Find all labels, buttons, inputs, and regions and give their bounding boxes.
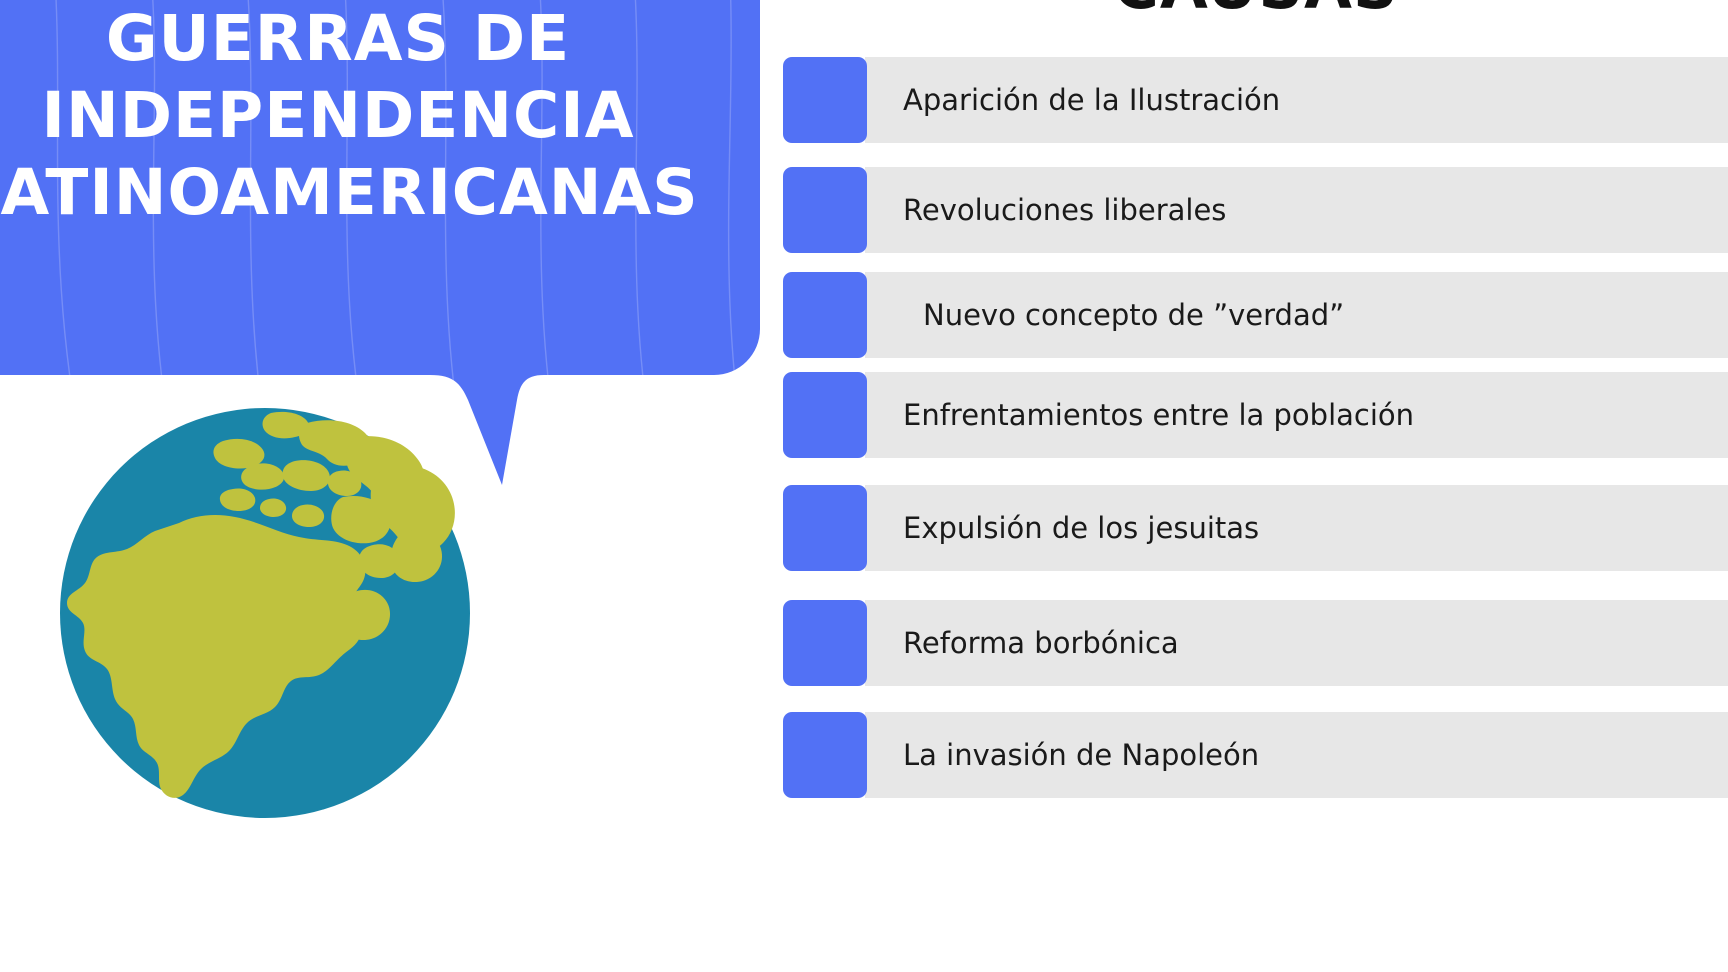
list-item[interactable]: La invasión de Napoleón [783,712,1728,798]
bubble-title-text: GUERRAS DE INDEPENDENCIA LATINOAMERICANA… [0,0,752,231]
cause-bullet-chip [783,712,867,798]
cause-bullet-chip [783,57,867,143]
cause-label: La invasión de Napoleón [865,738,1259,772]
cause-bar: Enfrentamientos entre la población [865,372,1728,458]
cause-bar: Revoluciones liberales [865,167,1728,253]
cause-label: Expulsión de los jesuitas [865,511,1259,545]
globe-icon [57,405,473,821]
cause-bar: Aparición de la Ilustración [865,57,1728,143]
infographic-slide: GUERRAS DE INDEPENDENCIA LATINOAMERICANA… [0,0,1728,972]
cause-bar: Nuevo concepto de ”verdad” [865,272,1728,358]
list-item[interactable]: Aparición de la Ilustración [783,57,1728,143]
list-item[interactable]: Nuevo concepto de ”verdad” [783,272,1728,358]
cause-bar: La invasión de Napoleón [865,712,1728,798]
page-title: CAUSAS [1006,0,1506,18]
cause-bullet-chip [783,272,867,358]
list-item[interactable]: Enfrentamientos entre la población [783,372,1728,458]
cause-bullet-chip [783,167,867,253]
cause-bullet-chip [783,485,867,571]
cause-bullet-chip [783,372,867,458]
bubble-title-line-3: LATINOAMERICANAS [0,154,746,231]
cause-bar: Expulsión de los jesuitas [865,485,1728,571]
cause-label: Aparición de la Ilustración [865,83,1280,117]
list-item[interactable]: Expulsión de los jesuitas [783,485,1728,571]
cause-label: Reforma borbónica [865,626,1179,660]
list-item[interactable]: Revoluciones liberales [783,167,1728,253]
bubble-title-line-2: INDEPENDENCIA [0,77,746,154]
earth-globe-illustration [57,405,473,821]
cause-label: Nuevo concepto de ”verdad” [865,298,1344,332]
list-item[interactable]: Reforma borbónica [783,600,1728,686]
causes-list: Aparición de la Ilustración Revoluciones… [783,57,1728,847]
bubble-title-line-1: GUERRAS DE [0,0,746,77]
cause-label: Revoluciones liberales [865,193,1226,227]
cause-label: Enfrentamientos entre la población [865,398,1414,432]
cause-bullet-chip [783,600,867,686]
cause-bar: Reforma borbónica [865,600,1728,686]
